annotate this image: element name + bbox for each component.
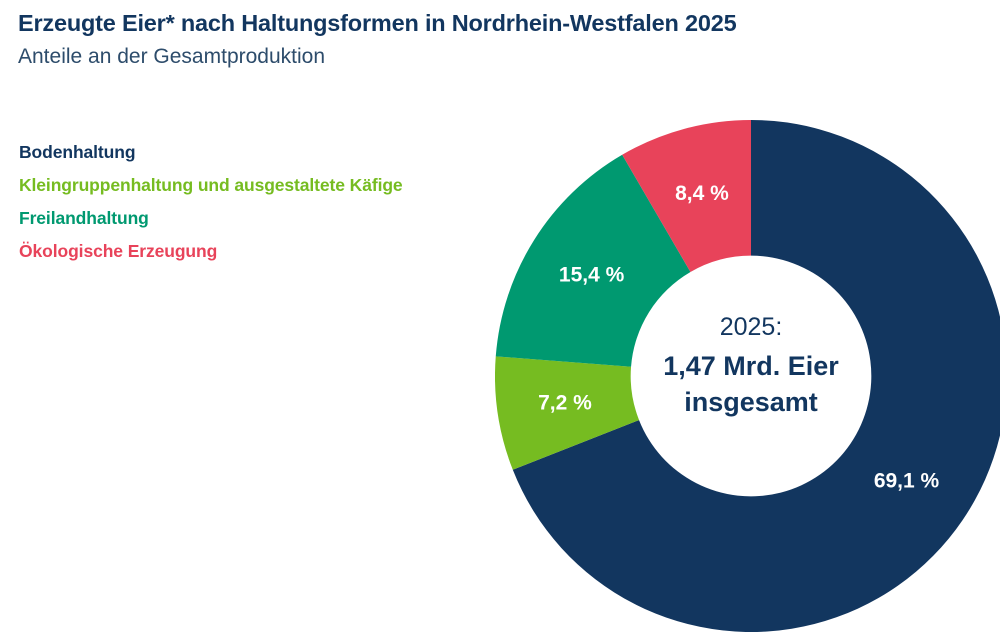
slice-label-freilandhaltung: 15,4 % bbox=[559, 264, 625, 287]
center-year-label: 2025: bbox=[720, 313, 783, 341]
chart-page: Erzeugte Eier* nach Haltungsformen in No… bbox=[0, 0, 1000, 642]
chart-legend: Bodenhaltung Kleingruppenhaltung und aus… bbox=[19, 136, 539, 268]
legend-item-kleingruppenhaltung[interactable]: Kleingruppenhaltung und ausgestaltete Kä… bbox=[19, 169, 539, 202]
center-total-label: 1,47 Mrd. Eier bbox=[663, 351, 839, 381]
legend-item-bodenhaltung[interactable]: Bodenhaltung bbox=[19, 136, 539, 169]
page-title: Erzeugte Eier* nach Haltungsformen in No… bbox=[18, 10, 918, 38]
donut-chart: 69,1 % 7,2 % 15,4 % 8,4 % 2025: 1,47 Mrd… bbox=[495, 120, 1000, 632]
legend-item-oekologische-erzeugung[interactable]: Ökologische Erzeugung bbox=[19, 235, 539, 268]
donut-chart-svg: 69,1 % 7,2 % 15,4 % 8,4 % 2025: 1,47 Mrd… bbox=[495, 120, 1000, 632]
center-total-suffix-label: insgesamt bbox=[684, 387, 818, 417]
chart-header: Erzeugte Eier* nach Haltungsformen in No… bbox=[18, 10, 918, 70]
slice-label-kleingruppenhaltung: 7,2 % bbox=[538, 391, 592, 414]
page-subtitle: Anteile an der Gesamtproduktion bbox=[18, 44, 918, 70]
donut-center-text: 2025: 1,47 Mrd. Eier insgesamt bbox=[663, 313, 839, 417]
legend-item-freilandhaltung[interactable]: Freilandhaltung bbox=[19, 202, 539, 235]
slice-label-oekologische: 8,4 % bbox=[675, 182, 729, 205]
slice-label-bodenhaltung: 69,1 % bbox=[874, 469, 940, 492]
